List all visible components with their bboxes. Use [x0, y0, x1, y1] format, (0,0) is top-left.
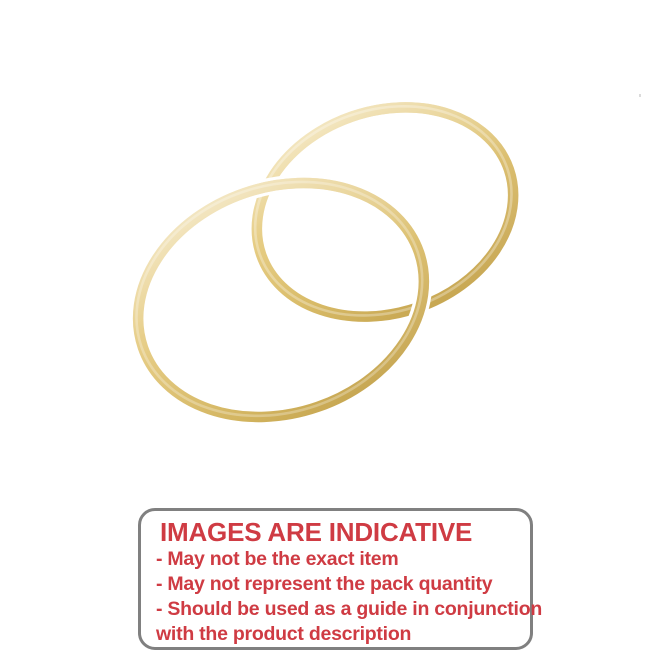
product-image-screen: IMAGES ARE INDICATIVE - May not be the e… [0, 0, 670, 670]
o-ring-front [105, 144, 456, 455]
disclaimer-line-3: - Should be used as a guide in conjuncti… [156, 597, 520, 622]
disclaimer-line-2: - May not represent the pack quantity [156, 572, 520, 597]
disclaimer-title: IMAGES ARE INDICATIVE [160, 517, 520, 547]
disclaimer-list: - May not be the exact item - May not re… [151, 547, 520, 647]
images-indicative-disclaimer: IMAGES ARE INDICATIVE - May not be the e… [138, 508, 533, 650]
product-image [0, 0, 670, 500]
disclaimer-line-1: - May not be the exact item [156, 547, 520, 572]
o-rings-illustration [0, 0, 670, 500]
scan-speck [639, 94, 641, 97]
disclaimer-line-4: with the product description [156, 622, 520, 647]
